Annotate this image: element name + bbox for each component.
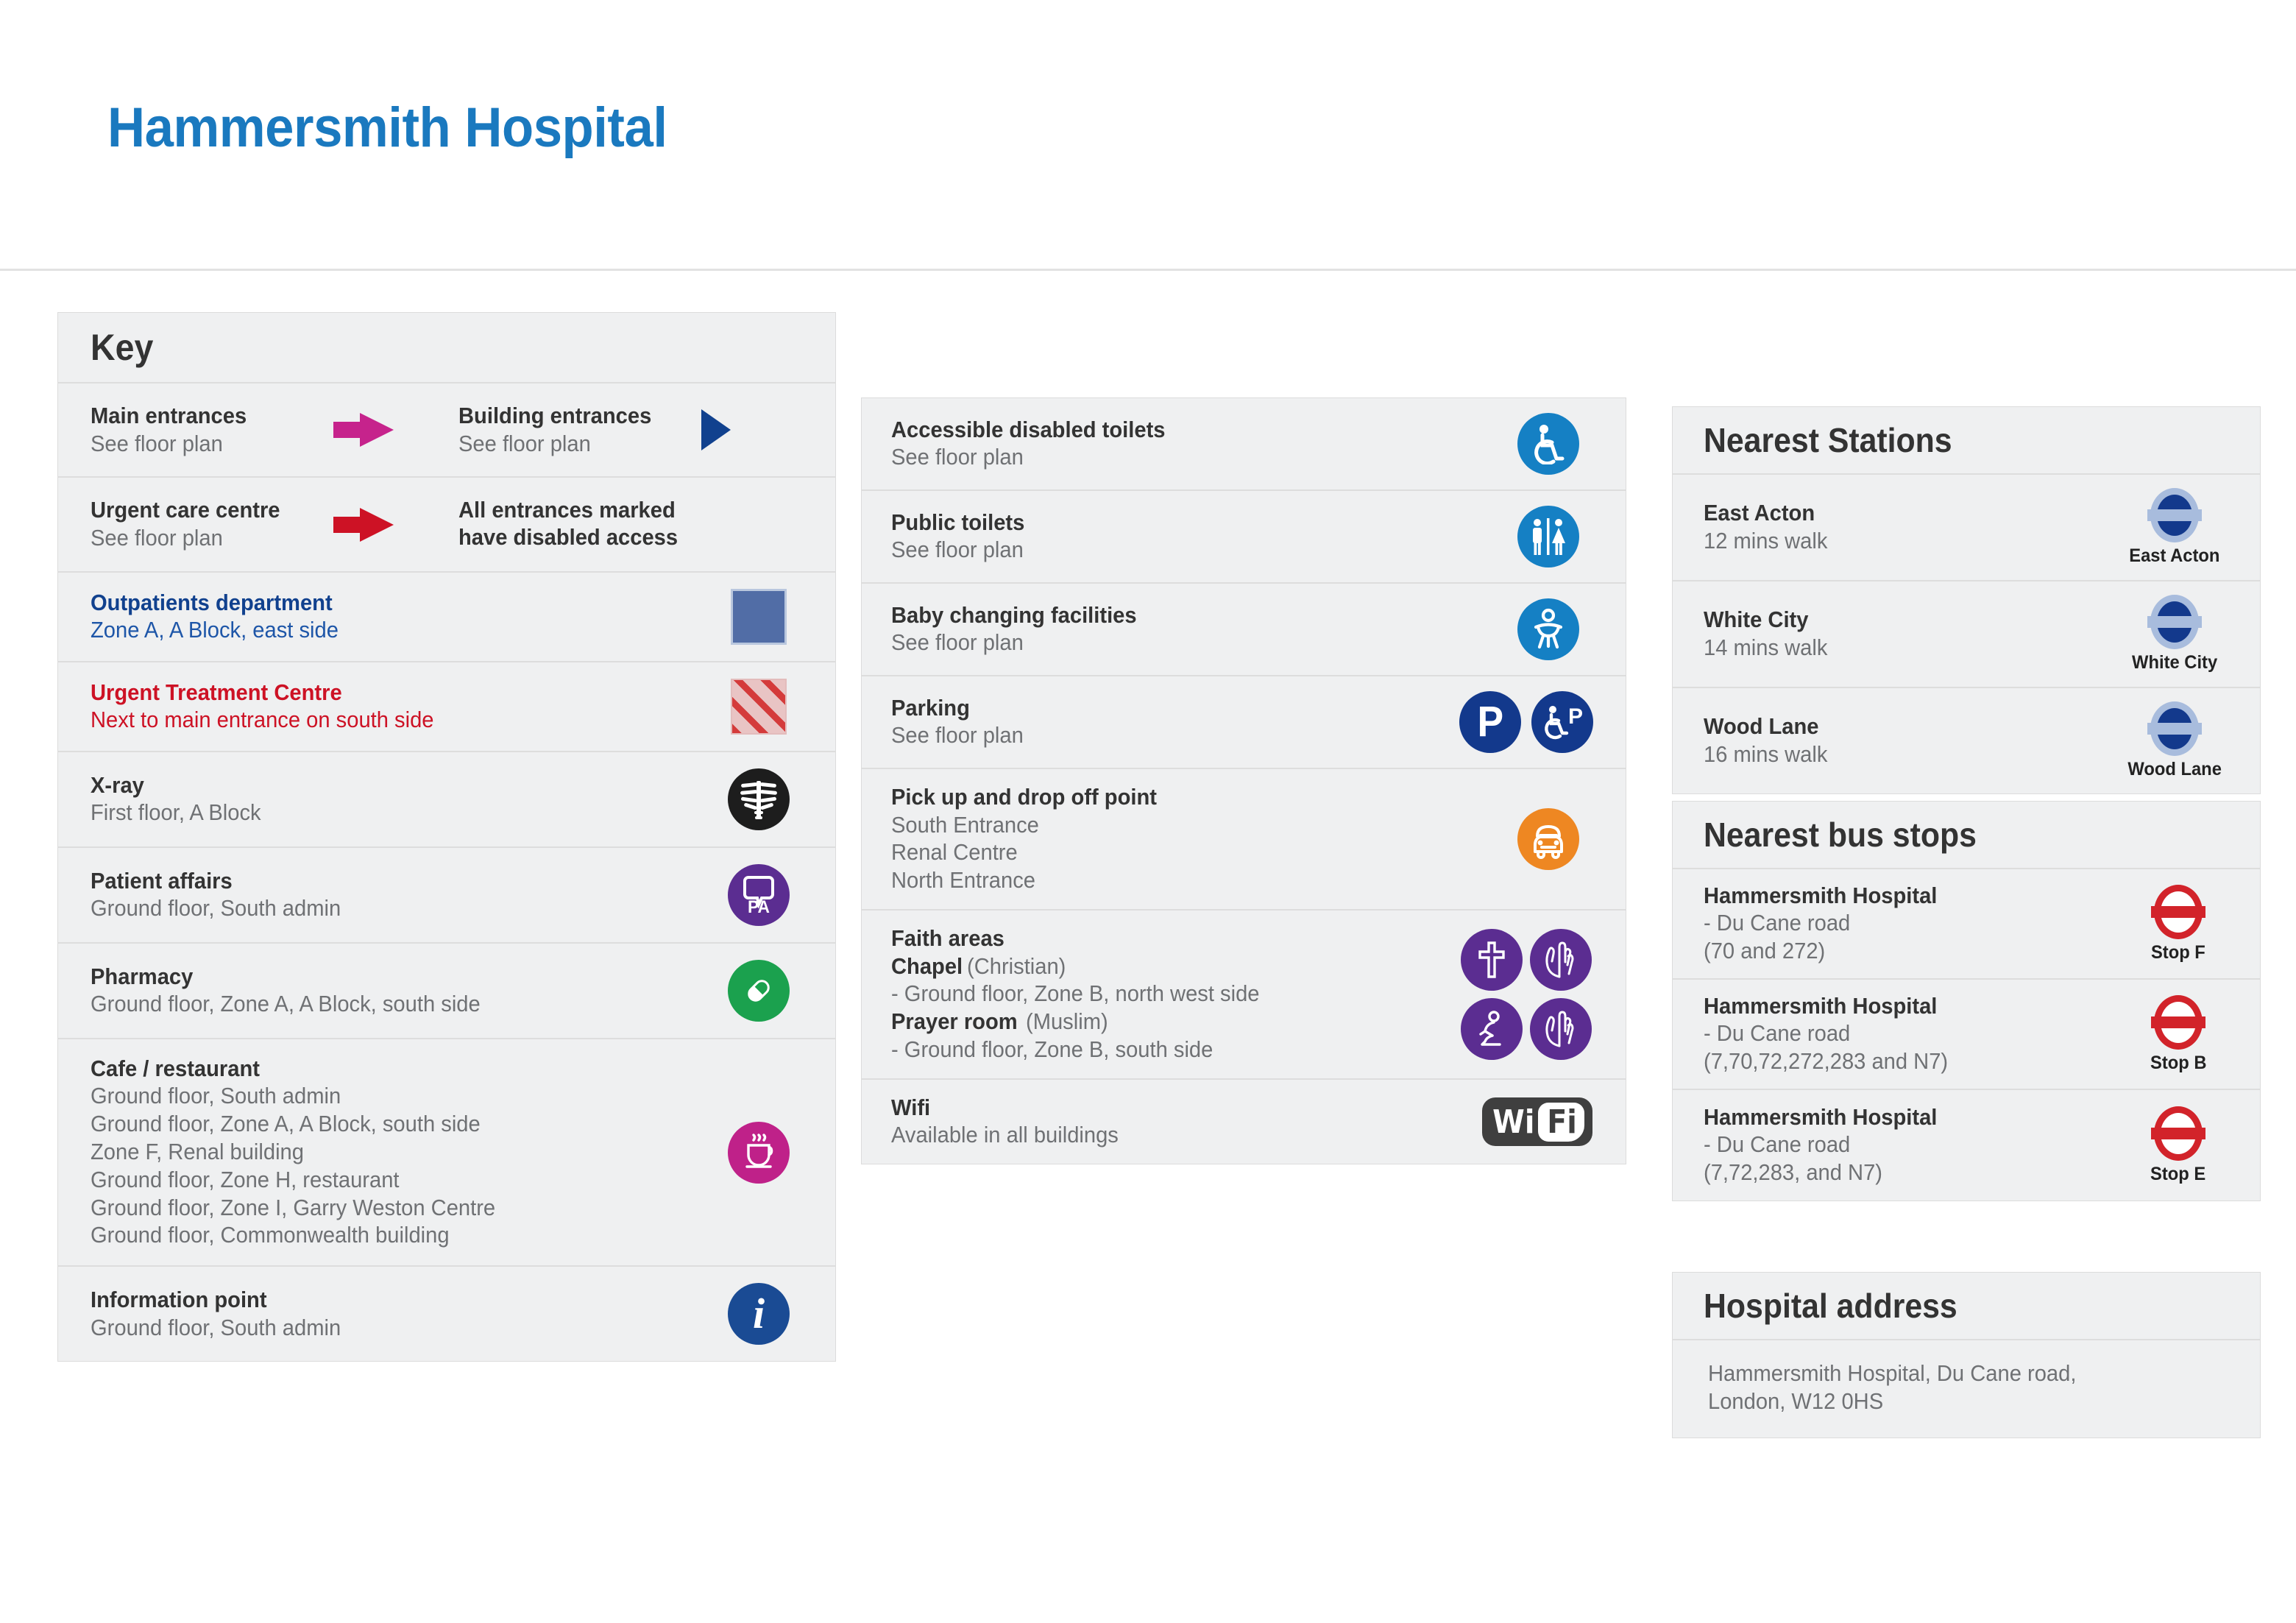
key-item-title: Information point <box>91 1287 670 1314</box>
tube-roundel-icon <box>2147 595 2202 649</box>
key-item-sub: Next to main entrance on south side <box>91 706 670 734</box>
bus-stop-row: Hammersmith Hospital - Du Cane road (7,7… <box>1673 1090 2260 1201</box>
bus-stop-row: Hammersmith Hospital - Du Cane road (7,7… <box>1673 980 2260 1090</box>
faith-chapel-religion: (Christian) <box>967 952 1066 980</box>
bus-stop-badge-label: Stop E <box>2150 1164 2205 1185</box>
key-item-urgent-care-centre: Urgent care centre See floor plan <box>91 497 458 551</box>
nearest-stations-panel: Nearest Stations East Acton 12 mins walk… <box>1672 406 2261 794</box>
facility-title: Accessible disabled toilets <box>891 417 1457 444</box>
facility-sub: See floor plan <box>891 536 1457 564</box>
key-panel: Key Main entrances See floor plan Buildi… <box>57 312 836 1362</box>
disabled-parking-icon: P <box>1531 691 1593 753</box>
address-panel-header: Hospital address <box>1673 1273 2260 1340</box>
station-walk-time: 16 mins walk <box>1704 740 2084 768</box>
blue-square-swatch <box>731 589 787 645</box>
key-item-sub: See floor plan <box>91 430 319 458</box>
key-item-title: All entrances marked <box>458 497 687 524</box>
bus-stop-road: - Du Cane road <box>1704 909 2091 937</box>
kneeling-prayer-icon <box>1461 998 1523 1060</box>
bus-stop-routes: (70 and 272) <box>1704 937 2091 965</box>
facility-row-parking: Parking See floor plan P P <box>862 676 1626 769</box>
key-row-xray: X-ray First floor, A Block <box>58 752 835 848</box>
bus-stop-name: Hammersmith Hospital <box>1704 993 2091 1020</box>
facility-row-baby-changing: Baby changing facilities See floor plan <box>862 584 1626 676</box>
key-row-urgent-treatment-centre: Urgent Treatment Centre Next to main ent… <box>58 662 835 752</box>
bus-stop-badge-label: Stop F <box>2151 942 2205 963</box>
key-row-pharmacy: Pharmacy Ground floor, Zone A, A Block, … <box>58 944 835 1039</box>
key-item-title-line2: have disabled access <box>458 524 687 551</box>
facility-title: Baby changing facilities <box>891 602 1457 629</box>
key-item-sub: First floor, A Block <box>91 799 670 827</box>
pharmacy-capsule-icon <box>728 960 790 1022</box>
bus-stop-row: Hammersmith Hospital - Du Cane road (70 … <box>1673 869 2260 980</box>
facility-sub: South Entrance <box>891 811 1457 839</box>
key-row-cafe-restaurant: Cafe / restaurant Ground floor, South ad… <box>58 1039 835 1267</box>
page-header: Hammersmith Hospital <box>0 0 2296 271</box>
station-row: Wood Lane 16 mins walk Wood Lane <box>1673 688 2260 793</box>
key-item-title: Urgent Treatment Centre <box>91 679 670 707</box>
address-line-2: London, W12 0HS <box>1708 1387 2209 1415</box>
key-item-sub: Ground floor, Zone A, A Block, south sid… <box>91 990 670 1018</box>
bus-panel-title: Nearest bus stops <box>1704 815 1977 855</box>
key-item-sub: See floor plan <box>458 430 687 458</box>
nearest-bus-stops-panel: Nearest bus stops Hammersmith Hospital -… <box>1672 801 2261 1201</box>
key-item-sub: Ground floor, Commonwealth building <box>91 1221 670 1249</box>
tube-roundel-icon <box>2147 488 2202 542</box>
key-row-outpatients: Outpatients department Zone A, A Block, … <box>58 573 835 662</box>
key-item-main-entrances: Main entrances See floor plan <box>91 403 458 457</box>
wifi-icon: Wi Fi <box>1482 1097 1592 1146</box>
station-walk-time: 14 mins walk <box>1704 634 2084 662</box>
station-walk-time: 12 mins walk <box>1704 527 2084 555</box>
bus-stop-badge-label: Stop B <box>2150 1053 2207 1074</box>
cafe-cup-icon <box>728 1122 790 1184</box>
key-item-title: Patient affairs <box>91 868 670 895</box>
key-item-title: Urgent care centre <box>91 497 319 524</box>
bus-stop-routes: (7,72,283, and N7) <box>1704 1159 2091 1187</box>
xray-icon <box>728 768 790 830</box>
facility-sub: See floor plan <box>891 629 1457 657</box>
red-hatched-swatch <box>731 679 787 735</box>
bus-roundel-icon <box>2151 995 2205 1050</box>
facility-title: Parking <box>891 695 1416 722</box>
key-item-sub: Ground floor, Zone A, A Block, south sid… <box>91 1110 670 1138</box>
facility-row-wifi: Wifi Available in all buildings Wi Fi <box>862 1080 1626 1164</box>
key-item-title: Outpatients department <box>91 590 670 617</box>
address-panel-title: Hospital address <box>1704 1286 1957 1326</box>
stations-panel-header: Nearest Stations <box>1673 407 2260 475</box>
bus-stop-name: Hammersmith Hospital <box>1704 1104 2091 1131</box>
key-item-title: Pharmacy <box>91 963 670 991</box>
faith-prayer-room-religion: (Muslim) <box>1026 1008 1108 1036</box>
facility-sub: Available in all buildings <box>891 1121 1436 1149</box>
red-arrow-icon <box>333 508 394 542</box>
key-item-all-entrances-note: All entrances marked have disabled acces… <box>458 497 826 551</box>
svg-text:P: P <box>1568 704 1583 729</box>
hospital-address-panel: Hospital address Hammersmith Hospital, D… <box>1672 1272 2261 1438</box>
key-item-sub: Zone A, A Block, east side <box>91 616 670 644</box>
station-name: White City <box>1704 607 2084 634</box>
bus-roundel-icon <box>2151 1106 2205 1161</box>
station-badge-label: Wood Lane <box>2127 759 2222 780</box>
facility-row-pickup-dropoff: Pick up and drop off point South Entranc… <box>862 769 1626 910</box>
bus-stop-road: - Du Cane road <box>1704 1131 2091 1159</box>
praying-hands-icon <box>1530 929 1592 991</box>
facility-sub: See floor plan <box>891 721 1416 749</box>
facility-sub: North Entrance <box>891 866 1457 894</box>
key-item-sub: Zone F, Renal building <box>91 1138 670 1166</box>
bus-stop-routes: (7,70,72,272,283 and N7) <box>1704 1047 2091 1075</box>
facility-title: Faith areas <box>891 925 1416 952</box>
key-item-sub: Ground floor, Zone H, restaurant <box>91 1166 670 1194</box>
station-name: East Acton <box>1704 500 2084 527</box>
bus-stop-name: Hammersmith Hospital <box>1704 883 2091 910</box>
station-badge-label: East Acton <box>2129 545 2219 567</box>
bus-stop-road: - Du Cane road <box>1704 1019 2091 1047</box>
wheelchair-icon <box>1517 413 1579 475</box>
key-item-title: Main entrances <box>91 403 319 430</box>
key-item-sub: Ground floor, South admin <box>91 1082 670 1110</box>
faith-chapel-location: - Ground floor, Zone B, north west side <box>891 980 1416 1008</box>
key-row-information-point: Information point Ground floor, South ad… <box>58 1267 835 1361</box>
information-icon: i <box>728 1283 790 1345</box>
address-row: Hammersmith Hospital, Du Cane road, Lond… <box>1673 1340 2260 1438</box>
key-item-building-entrances: Building entrances See floor plan <box>458 403 826 457</box>
facility-row-public-toilets: Public toilets See floor plan <box>862 491 1626 584</box>
facility-row-accessible-toilets: Accessible disabled toilets See floor pl… <box>862 398 1626 491</box>
patient-affairs-icon: PA <box>728 864 790 926</box>
faith-prayer-room-location: - Ground floor, Zone B, south side <box>891 1036 1416 1064</box>
key-item-title: Cafe / restaurant <box>91 1056 670 1083</box>
car-icon <box>1517 808 1579 870</box>
patient-affairs-abbr: PA <box>729 897 788 918</box>
page-title: Hammersmith Hospital <box>107 96 667 160</box>
key-row-entrances-main: Main entrances See floor plan Building e… <box>58 383 835 478</box>
key-item-sub: Ground floor, South admin <box>91 894 670 922</box>
key-item-title: X-ray <box>91 772 670 799</box>
address-line-1: Hammersmith Hospital, Du Cane road, <box>1708 1359 2209 1387</box>
faith-chapel-label: Chapel <box>891 953 963 980</box>
parking-p-icon: P <box>1459 691 1521 753</box>
facility-sub: See floor plan <box>891 443 1457 471</box>
magenta-arrow-icon <box>333 413 394 447</box>
station-row: White City 14 mins walk White City <box>1673 581 2260 688</box>
key-panel-title: Key <box>91 326 153 369</box>
faith-prayer-room-label: Prayer room <box>891 1008 1018 1036</box>
facility-title: Public toilets <box>891 509 1457 537</box>
station-row: East Acton 12 mins walk East Acton <box>1673 475 2260 581</box>
facility-row-faith-areas: Faith areas Chapel (Christian) - Ground … <box>862 910 1626 1080</box>
cross-icon <box>1461 929 1523 991</box>
key-row-entrances-urgent: Urgent care centre See floor plan All en… <box>58 478 835 572</box>
blue-triangle-icon <box>701 409 731 450</box>
male-female-toilet-icon <box>1517 506 1579 567</box>
key-item-sub: Ground floor, Zone I, Garry Weston Centr… <box>91 1194 670 1222</box>
key-item-sub: See floor plan <box>91 524 319 552</box>
key-item-title: Building entrances <box>458 403 687 430</box>
key-row-patient-affairs: Patient affairs Ground floor, South admi… <box>58 848 835 944</box>
bus-panel-header: Nearest bus stops <box>1673 802 2260 869</box>
station-name: Wood Lane <box>1704 713 2084 740</box>
key-panel-header: Key <box>58 313 835 383</box>
facility-title: Wifi <box>891 1095 1436 1122</box>
station-badge-label: White City <box>2132 652 2217 673</box>
tube-roundel-icon <box>2147 701 2202 756</box>
stations-panel-title: Nearest Stations <box>1704 420 1952 460</box>
facility-title: Pick up and drop off point <box>891 784 1457 811</box>
key-item-sub: Ground floor, South admin <box>91 1314 670 1342</box>
baby-changing-icon <box>1517 598 1579 660</box>
facilities-panel: Accessible disabled toilets See floor pl… <box>861 397 1626 1164</box>
bus-roundel-icon <box>2151 885 2205 939</box>
facility-sub: Renal Centre <box>891 838 1457 866</box>
praying-hands-icon <box>1530 998 1592 1060</box>
